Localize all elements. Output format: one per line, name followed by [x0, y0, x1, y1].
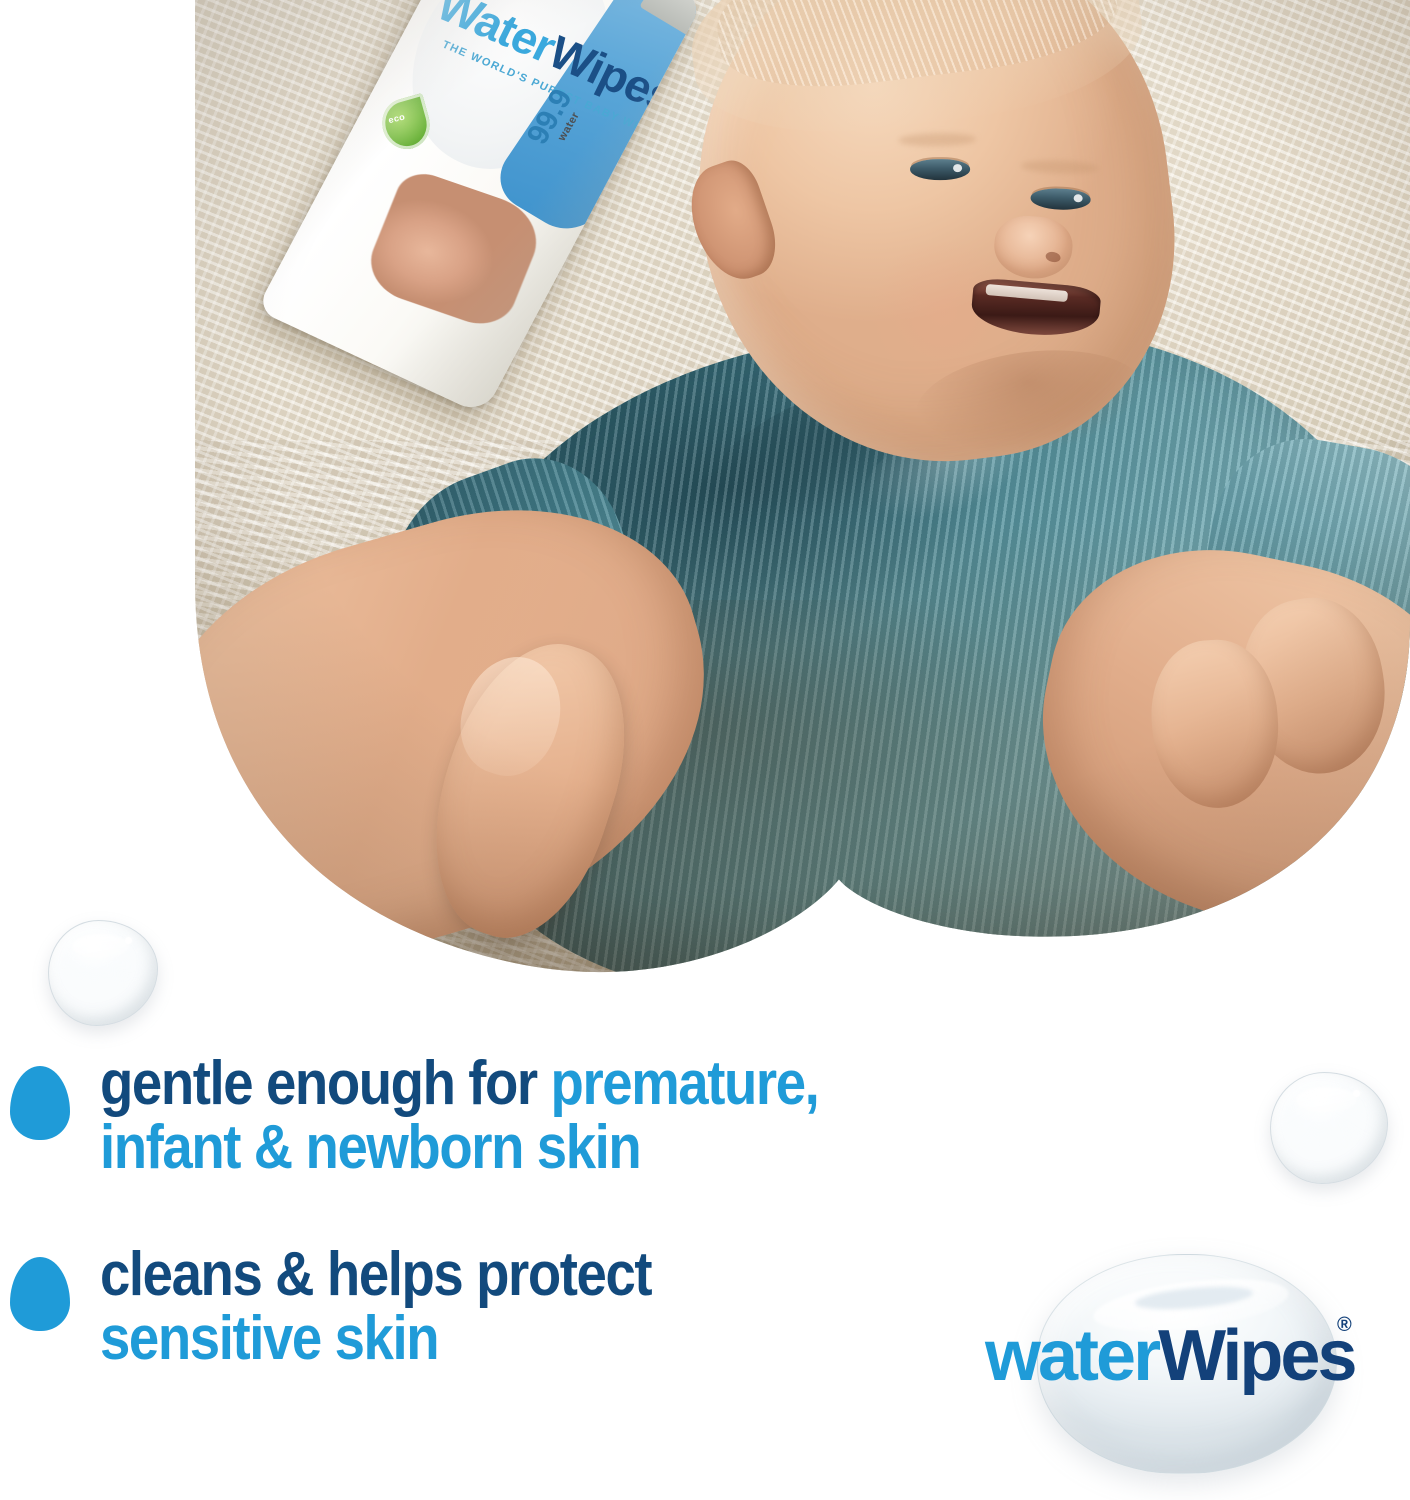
water-droplet-bullet-icon — [10, 1066, 70, 1140]
baby-hero-photo: WaterWipes THE WORLD'S PUREST BABY WIPES… — [195, 0, 1410, 1005]
claim-gentle-line2: infant & newborn skin — [100, 1113, 640, 1182]
water-droplet-left — [48, 920, 158, 1026]
claim-gentle-line1-navy: gentle enough for — [100, 1049, 551, 1118]
logo-wordmark: waterWipes — [985, 1320, 1385, 1392]
marketing-panel: WaterWipes THE WORLD'S PUREST BABY WIPES… — [0, 0, 1410, 1500]
claim-item-gentle: gentle enough for premature, infant & ne… — [0, 1052, 1000, 1181]
waterwipes-logo: waterWipes ® — [985, 1248, 1385, 1488]
water-droplet-right — [1270, 1072, 1388, 1184]
claim-cleans-line1: cleans & helps protect — [100, 1240, 651, 1309]
claim-cleans-line2: sensitive skin — [100, 1304, 438, 1373]
hero-photo-background: WaterWipes THE WORLD'S PUREST BABY WIPES… — [195, 0, 1410, 1005]
claim-gentle-line1-blue: premature, — [551, 1049, 819, 1118]
claim-gentle-text: gentle enough for premature, infant & ne… — [100, 1052, 892, 1181]
claim-item-cleans: cleans & helps protect sensitive skin — [0, 1243, 1000, 1372]
claim-cleans-text: cleans & helps protect sensitive skin — [100, 1243, 892, 1372]
logo-word-wipes: Wipes — [1158, 1316, 1354, 1396]
registered-trademark-mark: ® — [1337, 1314, 1352, 1337]
water-droplet-bullet-icon — [10, 1257, 70, 1331]
claims-list: gentle enough for premature, infant & ne… — [0, 1052, 1000, 1434]
logo-word-water: water — [985, 1316, 1158, 1396]
photo-vignette — [195, 0, 1410, 1005]
